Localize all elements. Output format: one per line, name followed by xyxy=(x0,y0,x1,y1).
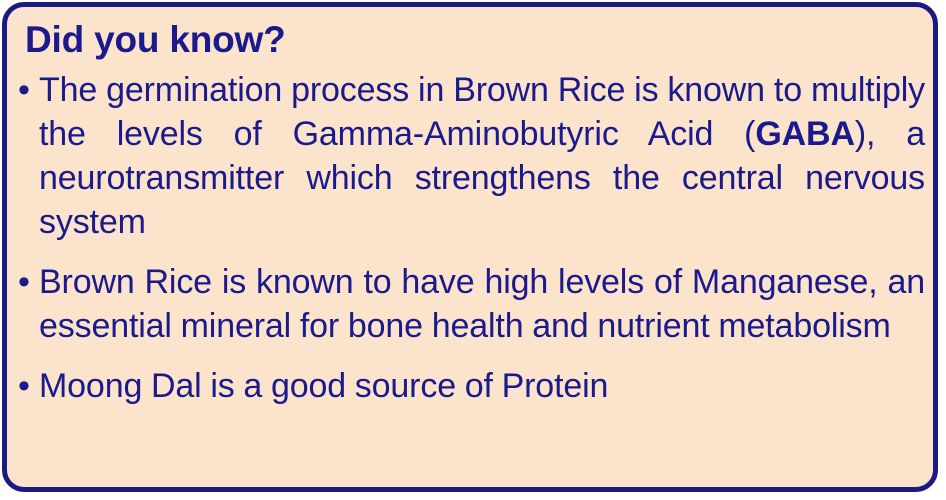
list-item-text-emphasis: GABA xyxy=(755,115,855,153)
list-item-text-lead: Moong Dal is a good source of Protein xyxy=(39,367,608,405)
list-item: •Moong Dal is a good source of Protein xyxy=(16,364,925,408)
did-you-know-card: Did you know? •The germination process i… xyxy=(2,2,938,492)
bullet-icon: • xyxy=(18,260,30,304)
fact-list: •The germination process in Brown Rice i… xyxy=(16,68,925,408)
list-item-text-lead: Brown Rice is known to have high levels … xyxy=(39,263,925,345)
bullet-icon: • xyxy=(18,68,30,112)
card-content: Did you know? •The germination process i… xyxy=(7,7,933,487)
page-title: Did you know? xyxy=(25,18,925,62)
list-item: •Brown Rice is known to have high levels… xyxy=(16,260,925,348)
bullet-icon: • xyxy=(18,364,30,408)
list-item: •The germination process in Brown Rice i… xyxy=(16,68,925,244)
